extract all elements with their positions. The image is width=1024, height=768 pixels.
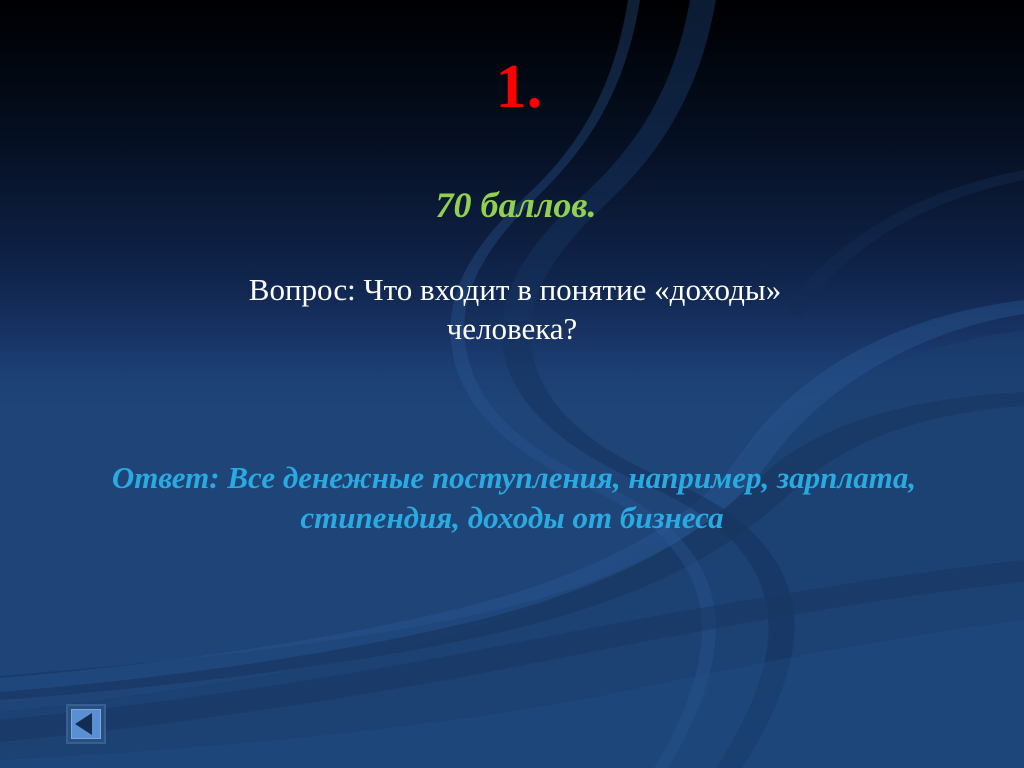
- slide-number: 1.: [0, 55, 1024, 120]
- triangle-left-icon: [75, 713, 92, 735]
- presentation-slide: 1. 70 баллов. Вопрос: Что входит в понят…: [0, 0, 1024, 768]
- question-text: Вопрос: Что входит в понятие «доходы» че…: [0, 270, 1024, 348]
- answer-text: Ответ: Все денежные поступления, наприме…: [0, 458, 1024, 537]
- back-button[interactable]: [66, 704, 106, 744]
- points-value: 70 баллов.: [0, 186, 1024, 226]
